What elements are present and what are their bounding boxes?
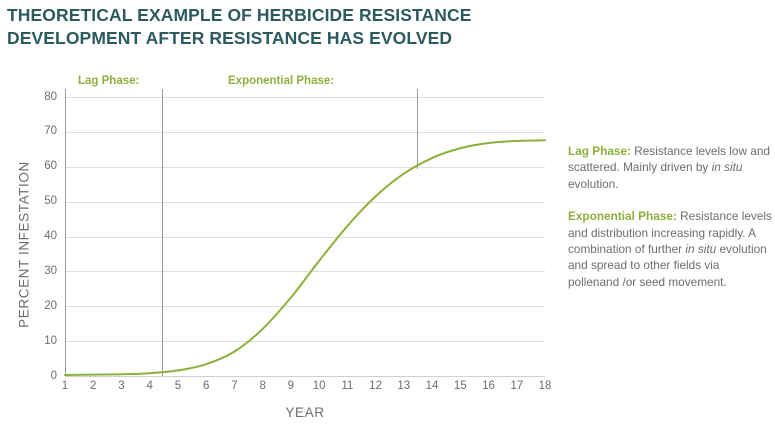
plot-area <box>65 97 545 376</box>
y-axis-tick-label: 60 <box>31 161 57 172</box>
y-axis-tick-label: 50 <box>31 196 57 207</box>
x-axis-title: YEAR <box>65 405 545 420</box>
x-axis-tick-label: 9 <box>279 380 303 392</box>
x-axis-tick-labels: 123456789101112131415161718 <box>65 380 545 396</box>
side-note-italic-term: in situ <box>685 242 716 256</box>
x-axis-tick-label: 3 <box>109 380 133 392</box>
page-title-line-1: THEORETICAL EXAMPLE OF HERBICIDE RESISTA… <box>7 4 607 27</box>
x-axis-tick-label: 17 <box>505 380 529 392</box>
page-title-line-2: DEVELOPMENT AFTER RESISTANCE HAS EVOLVED <box>7 27 607 50</box>
phase-label: Lag Phase: <box>78 75 139 87</box>
infestation-curve <box>65 97 545 376</box>
y-axis-tick-label: 20 <box>31 301 57 312</box>
side-note: Exponential Phase: Resistance levels and… <box>568 208 773 290</box>
chart-container: PERCENT INFESTATION 01020304050607080 La… <box>0 62 560 430</box>
y-axis-tick-label: 10 <box>31 336 57 347</box>
curve-path <box>65 140 545 375</box>
x-axis-tick-label: 7 <box>222 380 246 392</box>
x-axis-tick-label: 10 <box>307 380 331 392</box>
y-axis-tick-label: 40 <box>31 231 57 242</box>
x-axis-tick-label: 5 <box>166 380 190 392</box>
x-axis-tick-label: 4 <box>138 380 162 392</box>
y-axis-tick-label: 80 <box>31 92 57 103</box>
gridline <box>65 376 545 377</box>
x-axis-tick-label: 18 <box>533 380 557 392</box>
x-axis-tick-label: 14 <box>420 380 444 392</box>
x-axis-tick-label: 15 <box>448 380 472 392</box>
x-axis-tick-label: 1 <box>53 380 77 392</box>
side-note-italic-term: in situ <box>712 160 743 174</box>
y-axis-tick-labels: 01020304050607080 <box>27 97 57 376</box>
x-axis-tick-label: 13 <box>392 380 416 392</box>
x-axis-tick-label: 11 <box>335 380 359 392</box>
x-axis-tick-label: 12 <box>364 380 388 392</box>
side-notes: Lag Phase: Resistance levels low and sca… <box>568 143 773 290</box>
x-axis-tick-label: 16 <box>477 380 501 392</box>
x-axis-tick-label: 6 <box>194 380 218 392</box>
chart-page: THEORETICAL EXAMPLE OF HERBICIDE RESISTA… <box>0 0 775 430</box>
page-title: THEORETICAL EXAMPLE OF HERBICIDE RESISTA… <box>7 4 607 50</box>
phase-label: Exponential Phase: <box>228 75 334 87</box>
x-axis-tick-label: 8 <box>251 380 275 392</box>
side-note-lead: Exponential Phase: <box>568 209 677 223</box>
side-note-lead: Lag Phase: <box>568 144 631 158</box>
y-axis-tick-label: 30 <box>31 266 57 277</box>
side-note: Lag Phase: Resistance levels low and sca… <box>568 143 773 192</box>
x-axis-tick-label: 2 <box>81 380 105 392</box>
y-axis-tick-label: 70 <box>31 126 57 137</box>
